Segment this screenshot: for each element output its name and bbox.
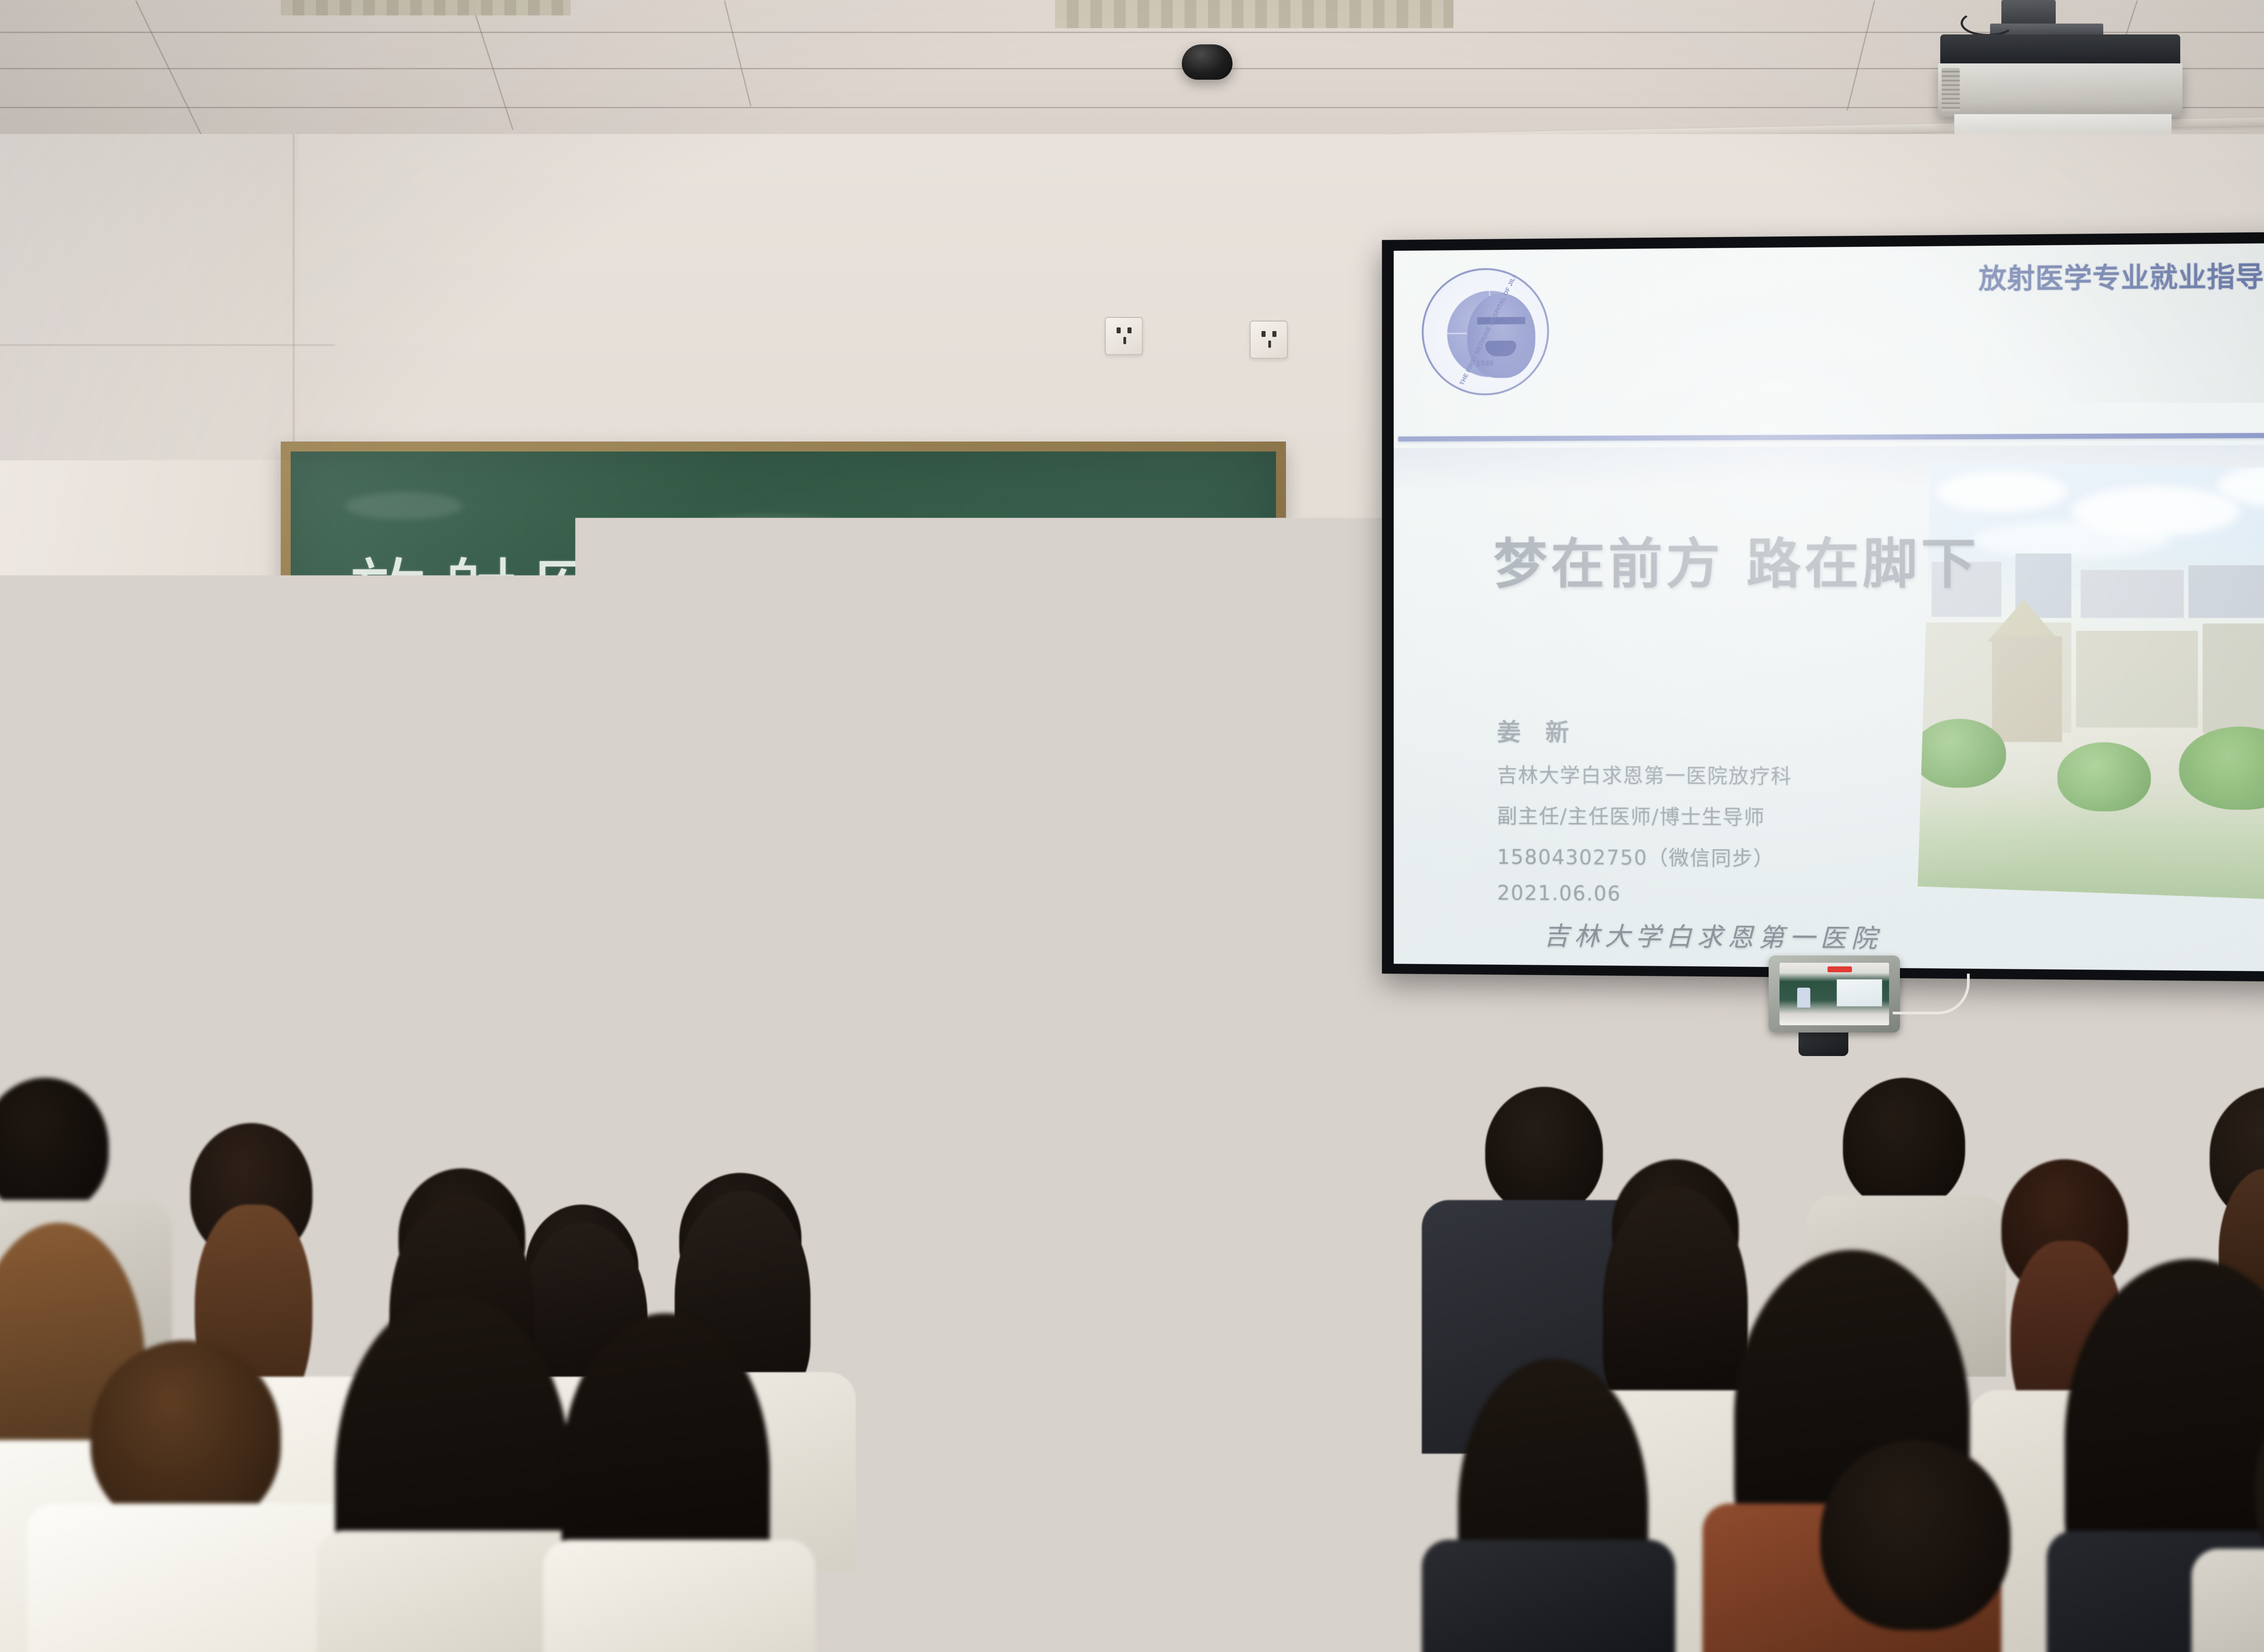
floor-tile-line	[1037, 1472, 1039, 1652]
audience-hair	[1603, 1186, 1748, 1422]
glasses-bridge	[798, 721, 808, 723]
wall-socket[interactable]	[1105, 317, 1143, 355]
audience-head	[91, 1340, 281, 1531]
logo-ring-text: THE FIRST BETHUNE HOSPITAL OF JILIN UNIV…	[1424, 269, 1547, 394]
wall-socket[interactable]	[1250, 321, 1288, 359]
ceiling-vent-panel	[281, 0, 571, 15]
podium-drawer-rail	[887, 1159, 1001, 1167]
presenter-clicker[interactable]	[954, 725, 974, 779]
ceiling-grid-line	[0, 107, 2264, 108]
stage-riser-face	[874, 1417, 1399, 1476]
ceiling-vent-panel	[1055, 0, 1453, 28]
floor-object-eraser	[987, 1309, 1020, 1322]
audience-head	[1485, 1087, 1603, 1214]
wall-socket[interactable]	[1250, 1160, 1288, 1198]
chalkboard-line-1: 放射医学专业	[350, 533, 898, 643]
podium-vent	[791, 1105, 817, 1227]
classroom-scene: 放射医学专业 就业指导交流会 THE FIRST BETHUNE HOS	[0, 0, 2264, 1652]
water-bottle[interactable]	[941, 874, 983, 997]
ceiling-grid-line	[0, 68, 2264, 69]
glasses-right-lens	[807, 711, 849, 736]
slide-accent-rule	[1398, 432, 2264, 442]
stage-riser-top	[874, 1399, 1417, 1421]
slide-header-title: 放射医学专业就业指导交流会	[1979, 254, 2264, 297]
desk-object-small[interactable]	[335, 1281, 371, 1296]
chalkboard-panel-left	[1288, 448, 1415, 996]
projector-body	[1938, 63, 2182, 117]
podium-drawer-rail	[887, 1118, 1001, 1126]
audience-head	[1820, 1440, 2010, 1630]
podium-top-left	[240, 960, 616, 992]
projector-body-top	[1940, 34, 2180, 65]
audience-body	[543, 1540, 815, 1652]
projector-cable	[1961, 10, 2015, 36]
wall-socket[interactable]	[1420, 1165, 1458, 1203]
dome-camera-icon	[1182, 44, 1233, 80]
wall-seam	[0, 344, 335, 346]
floor-tile-line	[1223, 1472, 1225, 1652]
audience-body	[1422, 1540, 1675, 1652]
lanyard-microphone-icon	[788, 921, 820, 960]
lanyard	[770, 793, 877, 902]
audience-body	[2192, 1549, 2264, 1652]
logo-year: 1949	[1476, 359, 1493, 368]
projector-vent-grill	[1942, 68, 1960, 111]
ceiling-grid-line	[0, 32, 2264, 33]
audience-head	[1843, 1078, 1965, 1209]
podium-vent	[339, 1105, 364, 1227]
glasses-left-lens	[756, 712, 798, 737]
hospital-logo-icon: THE FIRST BETHUNE HOSPITAL OF JILIN UNIV…	[1422, 268, 1549, 396]
